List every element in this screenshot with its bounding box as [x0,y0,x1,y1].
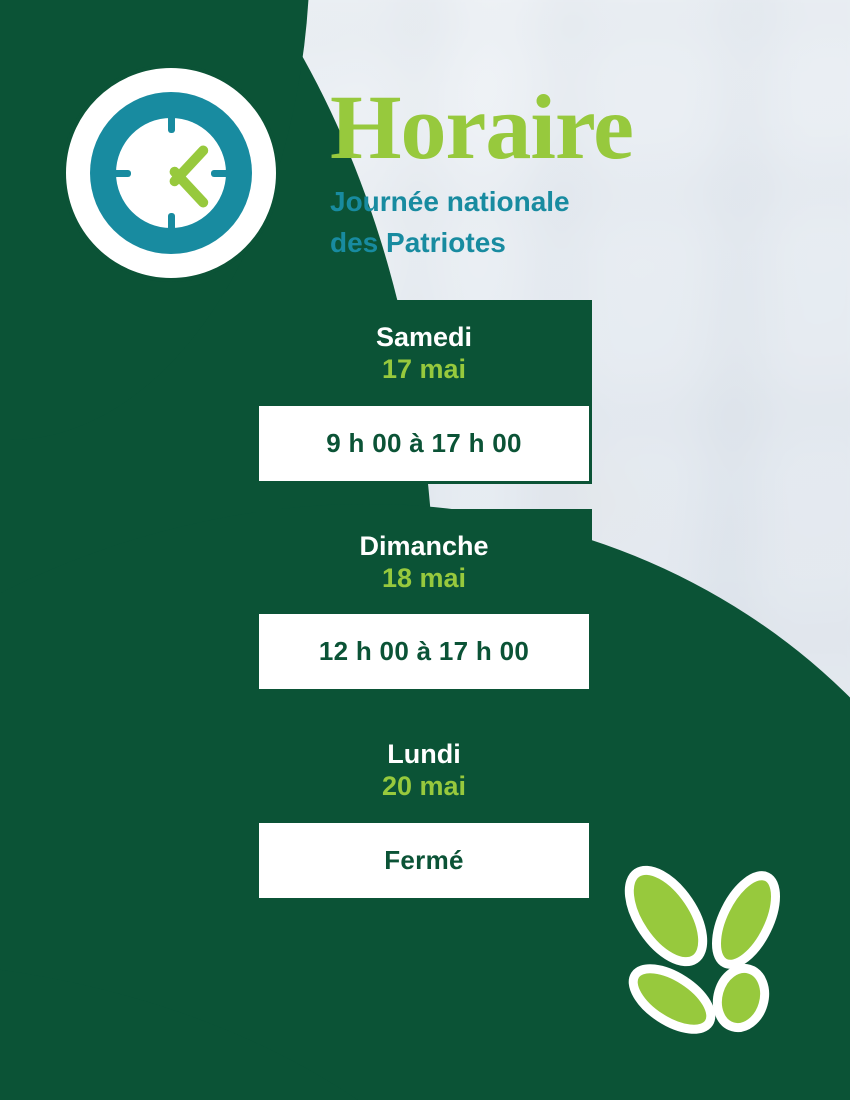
schedule-card-body: Fermé [256,823,592,901]
schedule-day-label: Dimanche [266,531,582,563]
clock-face [116,118,226,228]
schedule-date-label: 17 mai [266,354,582,386]
clock-tick-12-icon [168,115,175,133]
page-subtitle-line-2: des Patriotes [330,223,633,264]
schedule-hours-label: 9 h 00 à 17 h 00 [269,428,579,459]
schedule-card-body: 12 h 00 à 17 h 00 [256,614,592,692]
page-subtitle-line-1: Journée nationale [330,182,633,223]
schedule-hours-label: Fermé [269,845,579,876]
page-title: Horaire [330,84,633,170]
poster-canvas: Horaire Journée nationale des Patriotes … [0,0,850,1100]
schedule-card: Samedi 17 mai 9 h 00 à 17 h 00 [256,300,592,484]
schedule-card: Lundi 20 mai Fermé [256,717,592,901]
schedule-card-header: Samedi 17 mai [256,300,592,406]
schedule-day-label: Lundi [266,739,582,771]
schedule-card-header: Dimanche 18 mai [256,509,592,615]
poster-header: Horaire Journée nationale des Patriotes [0,0,850,290]
schedule-date-label: 20 mai [266,771,582,803]
schedule-day-label: Samedi [266,322,582,354]
clock-teal-ring [90,92,252,254]
clock-tick-3-icon [211,170,229,177]
schedule-date-label: 18 mai [266,563,582,595]
schedule-hours-label: 12 h 00 à 17 h 00 [269,636,579,667]
clock-tick-6-icon [168,213,175,231]
title-block: Horaire Journée nationale des Patriotes [330,84,633,264]
clock-icon [62,64,280,282]
schedule-list: Samedi 17 mai 9 h 00 à 17 h 00 Dimanche … [256,300,592,901]
page-subtitle: Journée nationale des Patriotes [330,182,633,263]
schedule-card-body: 9 h 00 à 17 h 00 [256,406,592,484]
schedule-card-header: Lundi 20 mai [256,717,592,823]
clock-tick-9-icon [113,170,131,177]
schedule-card: Dimanche 18 mai 12 h 00 à 17 h 00 [256,509,592,693]
butterfly-logo-icon [616,858,796,1048]
